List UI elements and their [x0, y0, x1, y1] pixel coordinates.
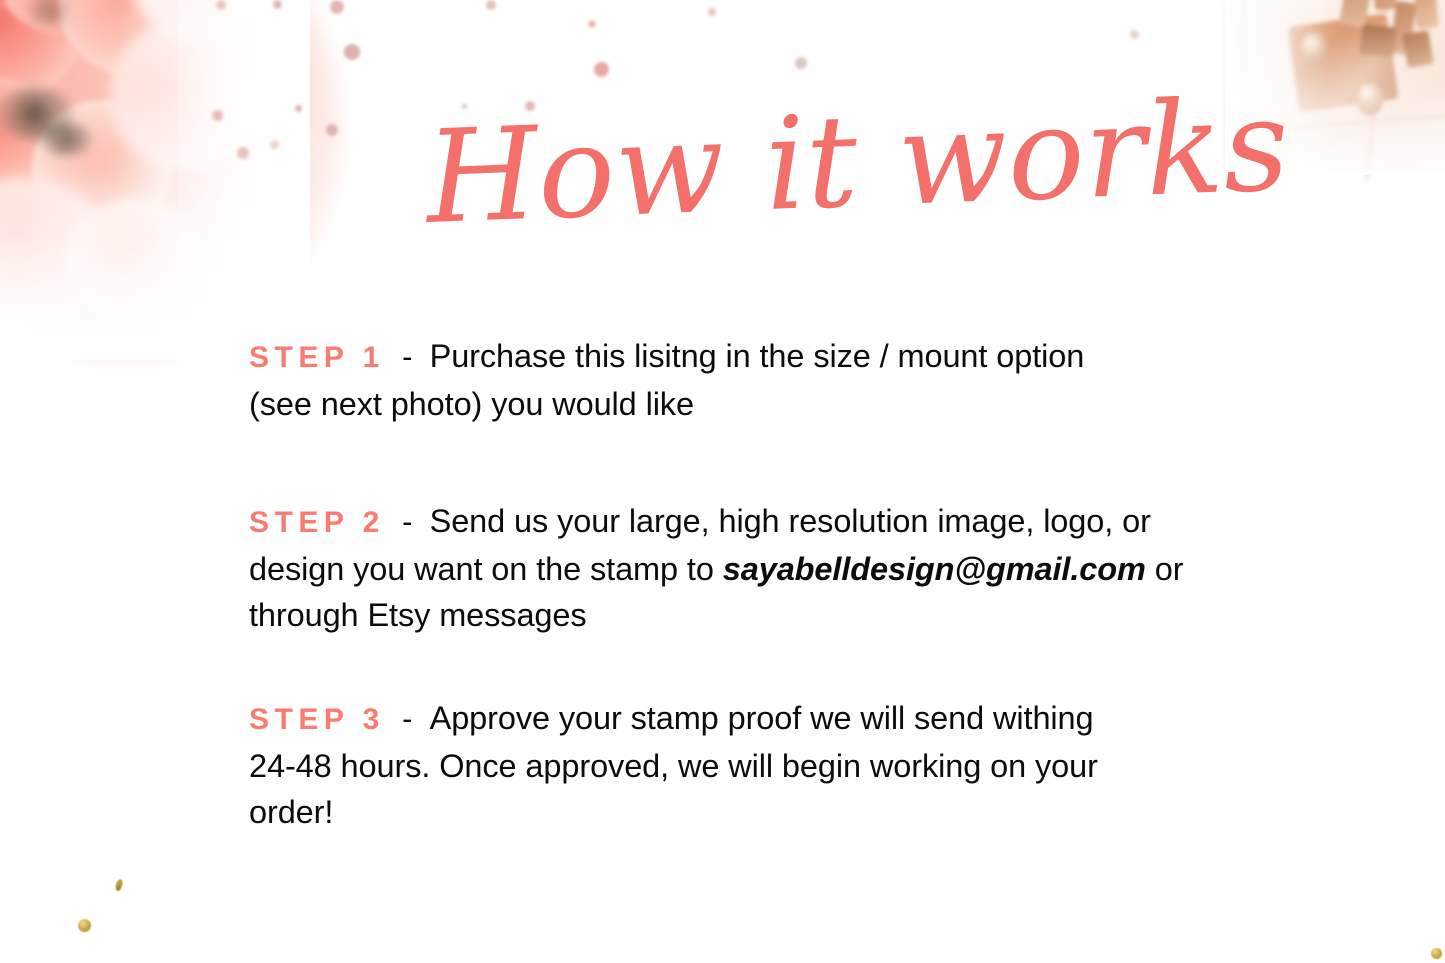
- how-it-works-graphic: How it works STEP 1 - Purchase this lisi…: [0, 0, 1445, 963]
- confetti-dot: [708, 8, 716, 16]
- confetti-dot: [795, 57, 807, 69]
- gold-confetti-dot: [114, 878, 123, 891]
- step-2-label: STEP 2: [249, 506, 385, 539]
- gold-confetti-dot: [78, 919, 91, 932]
- step-item: STEP 2 - Send us your large, high resolu…: [249, 465, 1209, 670]
- confetti-dot: [326, 124, 338, 136]
- step-2-email: sayabelldesign@gmail.com: [723, 551, 1146, 587]
- confetti-dot: [273, 0, 282, 9]
- step-2-separator: -: [385, 504, 430, 539]
- confetti-dot: [1130, 30, 1139, 39]
- page-title-text: How it works: [421, 71, 1291, 253]
- step-1-separator: -: [385, 339, 430, 374]
- gold-confetti-dot: [1431, 948, 1442, 959]
- confetti-dot: [588, 20, 596, 28]
- confetti-dot: [330, 0, 344, 14]
- step-item: STEP 3 - Approve your stamp proof we wil…: [249, 662, 1149, 867]
- confetti-dot: [212, 110, 223, 121]
- step-1-body: STEP 1 - Purchase this lisitng in the si…: [249, 333, 1149, 427]
- confetti-dot: [295, 105, 302, 112]
- step-2-body: STEP 2 - Send us your large, high resolu…: [249, 498, 1209, 638]
- confetti-dot: [594, 62, 609, 77]
- step-3-separator: -: [385, 701, 430, 736]
- step-3-label: STEP 3: [249, 703, 385, 736]
- step-3-body: STEP 3 - Approve your stamp proof we wil…: [249, 695, 1149, 835]
- confetti-dot: [216, 0, 226, 10]
- step-item: STEP 1 - Purchase this lisitng in the si…: [249, 300, 1149, 459]
- confetti-dot: [344, 44, 360, 60]
- confetti-dot: [486, 0, 496, 10]
- page-title: How it works: [420, 104, 1080, 264]
- confetti-dot: [237, 147, 249, 159]
- step-1-label: STEP 1: [249, 341, 385, 374]
- confetti-dot: [270, 140, 279, 149]
